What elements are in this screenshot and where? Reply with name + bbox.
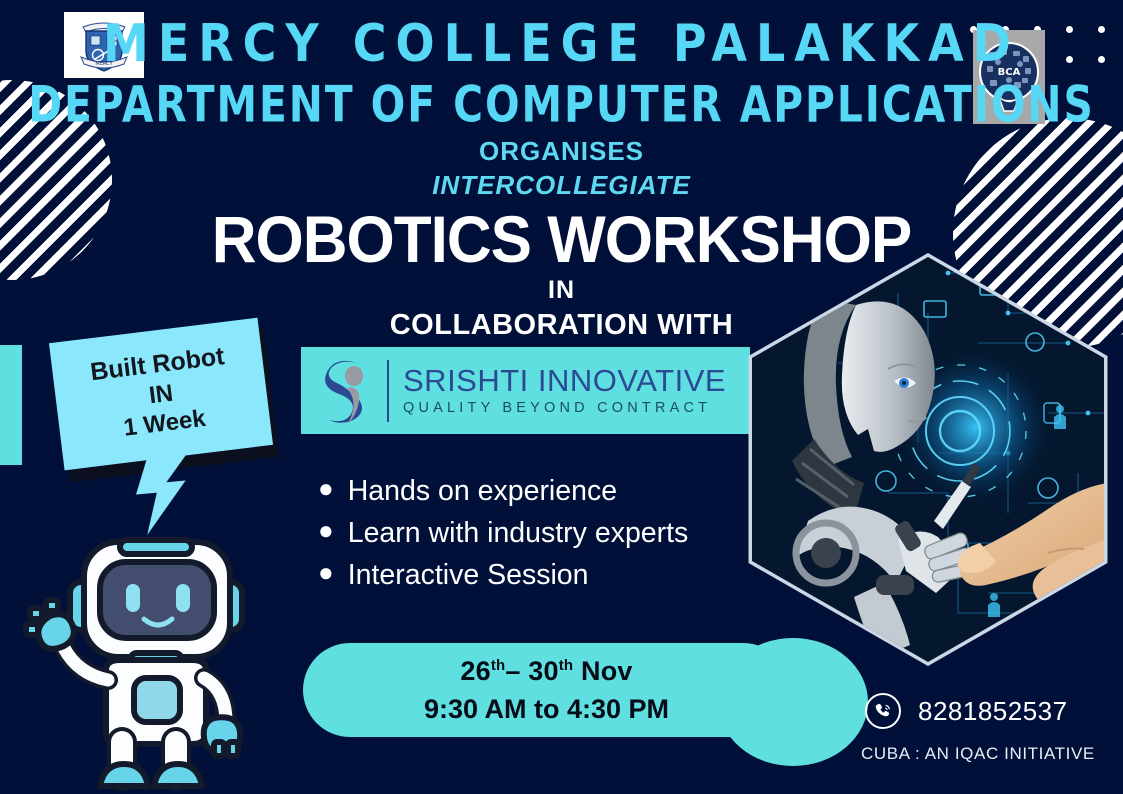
event-date: 26th– 30th Nov [460,656,632,687]
college-name-heading: MERCY COLLEGE PALAKKAD [0,13,1123,73]
event-poster: MERCY BCA MERCY COLLEGE PALAKKAD DEPARTM… [0,0,1123,794]
date-start: 26 [460,656,490,686]
bullet-icon: ● [318,554,334,592]
speech-bubble: Built Robot IN 1 Week [56,330,294,530]
department-name-heading: DEPARTMENT OF COMPUTER APPLICATIONS [17,76,1106,134]
robot-human-touch-image [748,253,1108,666]
schedule-badge: 26th– 30th Nov 9:30 AM to 4:30 PM [303,643,790,737]
srishti-logo-icon [315,354,381,428]
date-month: Nov [573,656,632,686]
intercollegiate-label: INTERCOLLEGIATE [0,170,1123,201]
phone-icon [865,693,901,729]
bullet-icon: ● [318,470,334,508]
date-end-suffix: th [559,657,574,674]
bullet-icon: ● [318,512,334,550]
phone-glyph-icon [873,701,893,721]
partner-name: SRISHTI INNOVATIVE [403,365,726,398]
iqac-footer-note: CUBA : AN IQAC INITIATIVE [861,744,1095,764]
highlights-list: ● Hands on experience ● Learn with indus… [318,470,788,597]
cyan-strip-decoration [0,345,22,465]
date-start-suffix: th [491,657,506,674]
partner-banner: SRISHTI INNOVATIVE QUALITY BEYOND CONTRA… [301,347,750,434]
list-item-label: Interactive Session [348,554,589,596]
list-item-label: Learn with industry experts [348,512,689,554]
waving-robot-icon [8,520,283,794]
partner-tagline: QUALITY BEYOND CONTRACT [403,400,726,416]
organises-label: ORGANISES [0,136,1123,167]
speech-bubble-body: Built Robot IN 1 Week [49,318,273,471]
robot-mascot [8,520,283,794]
partner-logo-divider [387,360,389,422]
date-range-separator: – 30 [505,656,558,686]
bubble-line-2: IN [147,379,174,411]
list-item-label: Hands on experience [348,470,617,512]
bubble-line-3: 1 Week [122,404,207,443]
contact-block[interactable]: 8281852537 [865,693,1068,729]
list-item: ● Learn with industry experts [318,512,788,554]
event-time: 9:30 AM to 4:30 PM [424,694,669,725]
hexagon-photo [748,253,1108,666]
list-item: ● Hands on experience [318,470,788,512]
phone-number[interactable]: 8281852537 [918,696,1068,727]
list-item: ● Interactive Session [318,554,788,596]
